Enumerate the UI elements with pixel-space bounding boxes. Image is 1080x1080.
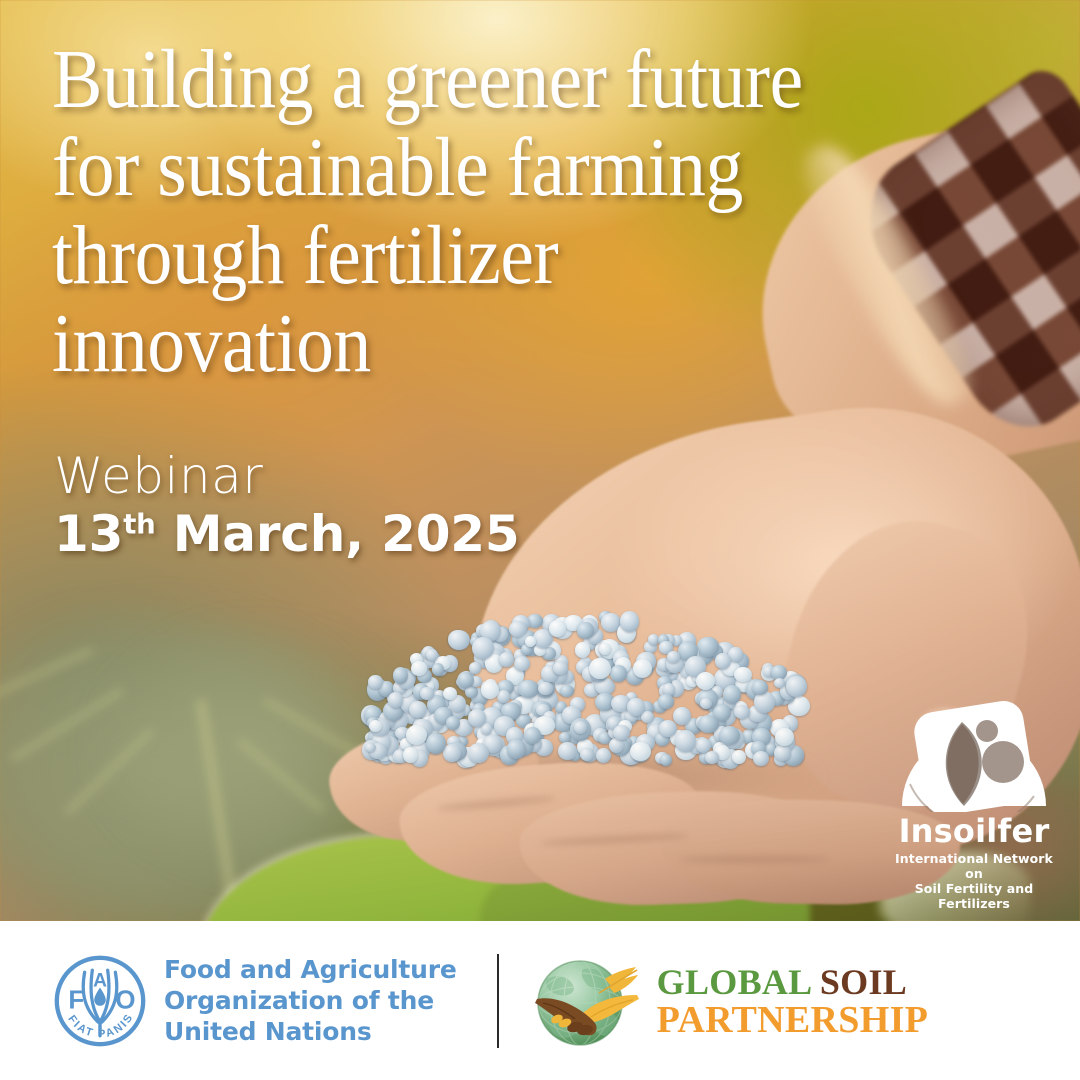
fertilizer-granule — [577, 622, 593, 640]
fertilizer-granule — [538, 682, 553, 695]
insoilfer-wordmark: Insoilfer — [884, 814, 1064, 848]
fertilizer-granule — [426, 649, 438, 661]
event-type-label: Webinar — [54, 448, 519, 504]
fertilizer-granule — [705, 751, 719, 764]
fao-logo: F A O FIAT PANIS Food and Agriculture Or… — [52, 953, 457, 1049]
event-date: 13th March, 2025 — [54, 504, 519, 564]
fertilizer-granule — [388, 692, 404, 708]
event-day-suffix: th — [123, 508, 155, 540]
fertilizer-granule — [393, 667, 408, 684]
fertilizer-granule — [613, 725, 629, 740]
fertilizer-granule — [658, 694, 674, 709]
fertilizer-granule — [514, 656, 530, 671]
svg-text:A: A — [93, 970, 107, 991]
fertilizer-granule — [633, 659, 652, 678]
fertilizer-granule — [630, 742, 650, 761]
insoilfer-seed-mark — [884, 700, 1064, 812]
fertilizer-granule — [786, 676, 807, 697]
fertilizer-granule — [549, 620, 566, 636]
svg-text:O: O — [115, 986, 135, 1014]
fertilizer-granule — [620, 611, 639, 631]
footer-divider — [497, 954, 499, 1048]
fertilizer-granule — [432, 663, 444, 676]
finger-crease — [680, 856, 830, 863]
fertilizer-granule — [641, 711, 654, 723]
fertilizer-granule — [627, 698, 645, 716]
gsp-line-one: GLOBAL SOIL — [657, 963, 929, 1001]
fertilizer-granule — [560, 685, 574, 697]
gsp-wordmark: GLOBAL SOIL PARTNERSHIP — [657, 963, 929, 1039]
insoilfer-tagline: International Network on Soil Fertility … — [884, 851, 1064, 911]
fertilizer-granule — [497, 690, 510, 703]
fertilizer-granule — [752, 680, 768, 694]
fertilizer-granule — [446, 716, 460, 730]
svg-text:F: F — [68, 986, 84, 1014]
event-info: Webinar 13th March, 2025 — [54, 448, 519, 564]
global-soil-partnership-logo: GLOBAL SOIL PARTNERSHIP — [533, 951, 929, 1051]
fertilizer-granule — [609, 738, 624, 753]
fertilizer-granule — [575, 642, 590, 658]
fertilizer-granule — [723, 685, 740, 704]
page-title: Building a greener future for sustainabl… — [52, 36, 862, 388]
fertilizer-granule — [732, 750, 746, 764]
fertilizer-granule — [524, 727, 540, 744]
fertilizer-granule — [774, 745, 791, 760]
fertilizer-granule — [715, 653, 730, 669]
fertilizer-granule — [574, 721, 587, 734]
webinar-promo-poster: Building a greener future for sustainabl… — [0, 0, 1080, 1080]
fertilizer-granule — [599, 643, 611, 655]
fao-emblem-icon: F A O FIAT PANIS — [52, 953, 148, 1049]
fertilizer-granule — [458, 672, 473, 689]
fertilizer-granule — [753, 751, 769, 766]
fertilizer-granule — [580, 748, 594, 761]
fertilizer-granule — [507, 739, 526, 758]
fertilizer-granule — [734, 705, 750, 719]
footer-bar: F A O FIAT PANIS Food and Agriculture Or… — [0, 921, 1080, 1080]
gsp-word-partnership: PARTNERSHIP — [657, 1001, 929, 1039]
fertilizer-granule — [610, 665, 627, 681]
fertilizer-granule — [406, 725, 427, 744]
fertilizer-granule — [775, 728, 794, 747]
gsp-word-soil: SOIL — [820, 962, 907, 1002]
footer-logos: F A O FIAT PANIS Food and Agriculture Or… — [52, 921, 928, 1080]
fertilizer-granule — [468, 743, 489, 763]
fertilizer-granule — [518, 680, 539, 698]
event-day: 13 — [54, 505, 123, 563]
fertilizer-granule — [420, 687, 433, 700]
fertilizer-granule — [472, 637, 494, 659]
fertilizer-granule — [403, 747, 418, 763]
fertilizer-granule — [443, 687, 457, 700]
fertilizer-granule — [659, 720, 677, 737]
fertilizer-granule — [448, 630, 470, 650]
fertilizer-granule — [589, 658, 610, 679]
fertilizer-granule — [469, 662, 481, 674]
insoilfer-logo: Insoilfer International Network on Soil … — [884, 700, 1064, 911]
fertilizer-granule — [596, 748, 611, 763]
fao-name-text: Food and Agriculture Organization of the… — [164, 954, 457, 1047]
fertilizer-granule — [675, 730, 696, 752]
fertilizer-granule — [660, 754, 672, 766]
fertilizer-granule — [667, 651, 679, 663]
gsp-globe-handshake-icon — [533, 951, 651, 1051]
fertilizer-granule — [509, 621, 527, 636]
fertilizer-granule-pile — [330, 616, 830, 816]
gsp-word-global: GLOBAL — [657, 962, 811, 1002]
fertilizer-granule — [697, 637, 718, 656]
fertilizer-granule — [499, 652, 514, 667]
event-month-year: March, 2025 — [156, 505, 520, 563]
